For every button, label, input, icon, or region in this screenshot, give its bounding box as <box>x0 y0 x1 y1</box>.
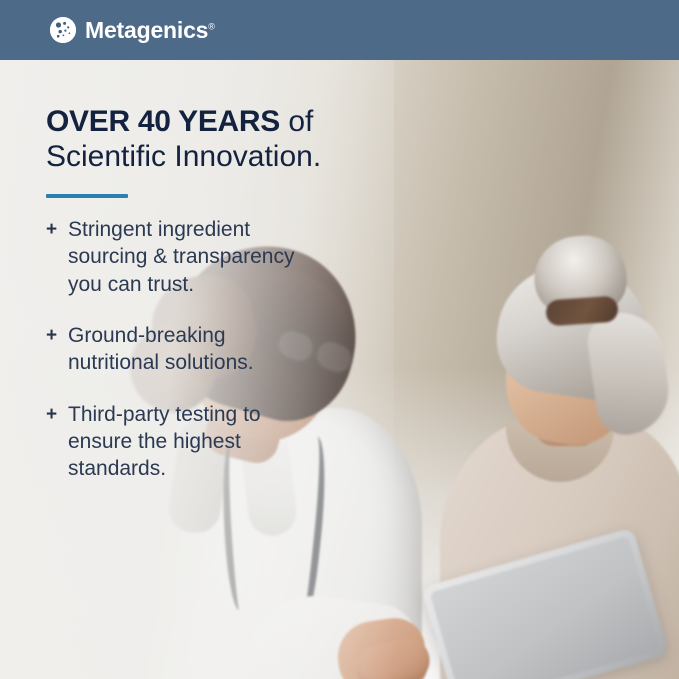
molecule-circle-icon <box>50 17 76 43</box>
list-item-label: Ground-breaking nutritional solutions. <box>68 322 273 377</box>
registered-trademark-symbol: ® <box>208 21 215 31</box>
page-title: OVER 40 YEARS of Scientific Innovation. <box>46 104 376 174</box>
plus-icon: + <box>46 401 68 427</box>
benefit-list: + Stringent ingredient sourcing & transp… <box>46 216 376 482</box>
advertisement-canvas: Metagenics® OVER 40 YEARS of Scientific … <box>0 0 679 679</box>
accent-divider <box>46 194 128 198</box>
brand-header-bar: Metagenics® <box>0 0 679 60</box>
list-item: + Stringent ingredient sourcing & transp… <box>46 216 376 298</box>
list-item: + Ground-breaking nutritional solutions. <box>46 322 376 377</box>
brand-wordmark: Metagenics® <box>85 19 215 42</box>
headline-connector: of <box>280 105 313 138</box>
plus-icon: + <box>46 322 68 348</box>
marketing-copy-block: OVER 40 YEARS of Scientific Innovation. … <box>46 104 376 483</box>
patient-hair-tie <box>545 296 619 327</box>
list-item-label: Stringent ingredient sourcing & transpar… <box>68 216 303 298</box>
headline-emphasis: OVER 40 YEARS <box>46 105 280 138</box>
plus-icon: + <box>46 216 68 242</box>
headline-subline: Scientific Innovation. <box>46 139 376 174</box>
list-item-label: Third-party testing to ensure the highes… <box>68 401 303 483</box>
brand-name: Metagenics <box>85 17 208 43</box>
list-item: + Third-party testing to ensure the high… <box>46 401 376 483</box>
